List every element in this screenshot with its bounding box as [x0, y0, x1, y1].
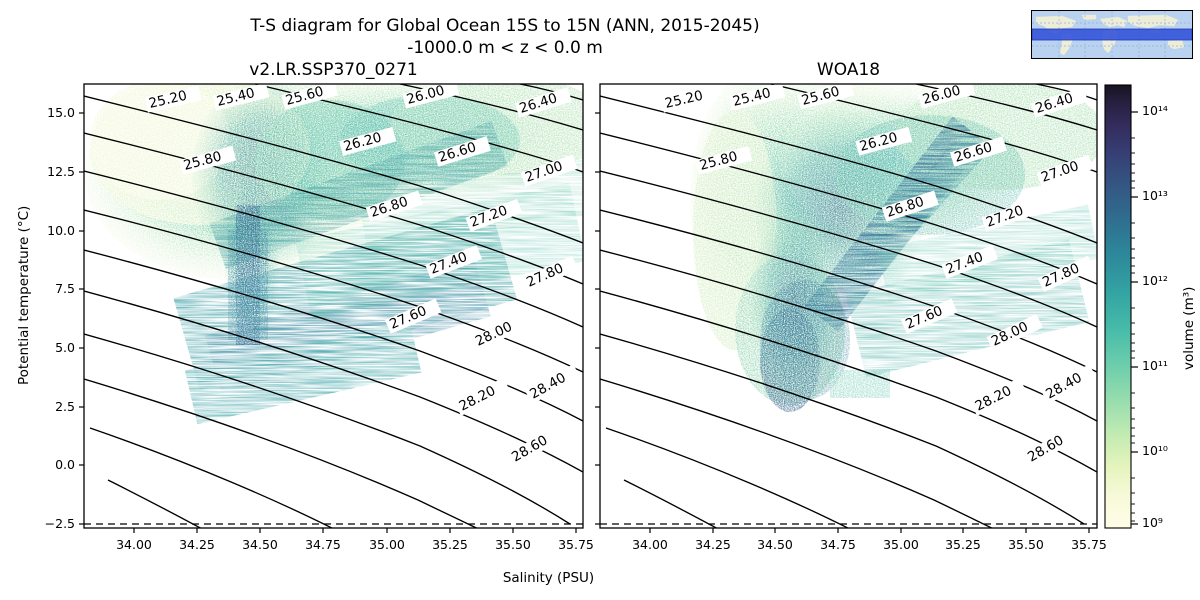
- cb-tick-3: 10¹²: [1142, 273, 1168, 288]
- panel-left: 25.20 25.40 25.60 25.80 26.00 26.20 26.4…: [79, 70, 610, 600]
- x-tick-right-6: 35.50: [1001, 537, 1051, 552]
- y-tick-3: 5.0: [29, 340, 75, 355]
- cb-tick-1: 10¹⁰: [1142, 443, 1168, 458]
- x-tick-right-3: 34.75: [813, 537, 863, 552]
- x-tick-right-7: 35.75: [1064, 537, 1114, 552]
- x-tick-left-3: 34.75: [298, 537, 348, 552]
- x-tick-right-4: 35.00: [876, 537, 926, 552]
- y-tick-7: 15.0: [29, 105, 75, 120]
- panel-right: 25.20 25.40 25.60 25.80 26.00 26.20 26.4…: [595, 70, 1105, 600]
- y-tick-4: 7.5: [29, 281, 75, 296]
- x-tick-right-5: 35.25: [938, 537, 988, 552]
- y-tick-0: −2.5: [29, 516, 75, 531]
- x-tick-left-6: 35.50: [488, 537, 538, 552]
- cb-tick-2: 10¹¹: [1142, 358, 1168, 373]
- x-tick-left-0: 34.00: [109, 537, 159, 552]
- plot-canvas: 25.20 25.40 25.60 25.80 26.00 26.20 26.4…: [0, 0, 1200, 600]
- y-tick-5: 10.0: [29, 223, 75, 238]
- x-tick-left-4: 35.00: [362, 537, 412, 552]
- x-tick-right-2: 34.50: [750, 537, 800, 552]
- figure-root: T-S diagram for Global Ocean 15S to 15N …: [0, 0, 1200, 600]
- x-tick-left-7: 35.75: [551, 537, 601, 552]
- y-tick-1: 0.0: [29, 457, 75, 472]
- x-tick-right-0: 34.00: [625, 537, 675, 552]
- x-tick-left-2: 34.50: [235, 537, 285, 552]
- x-tick-left-1: 34.25: [172, 537, 222, 552]
- y-tick-2: 2.5: [29, 399, 75, 414]
- y-tick-6: 12.5: [29, 164, 75, 179]
- cb-tick-4: 10¹³: [1142, 188, 1168, 203]
- x-tick-left-5: 35.25: [425, 537, 475, 552]
- x-tick-right-1: 34.25: [688, 537, 738, 552]
- colorbar[interactable]: [1105, 85, 1138, 528]
- cb-tick-5: 10¹⁴: [1142, 103, 1168, 118]
- cb-tick-0: 10⁹: [1142, 515, 1163, 530]
